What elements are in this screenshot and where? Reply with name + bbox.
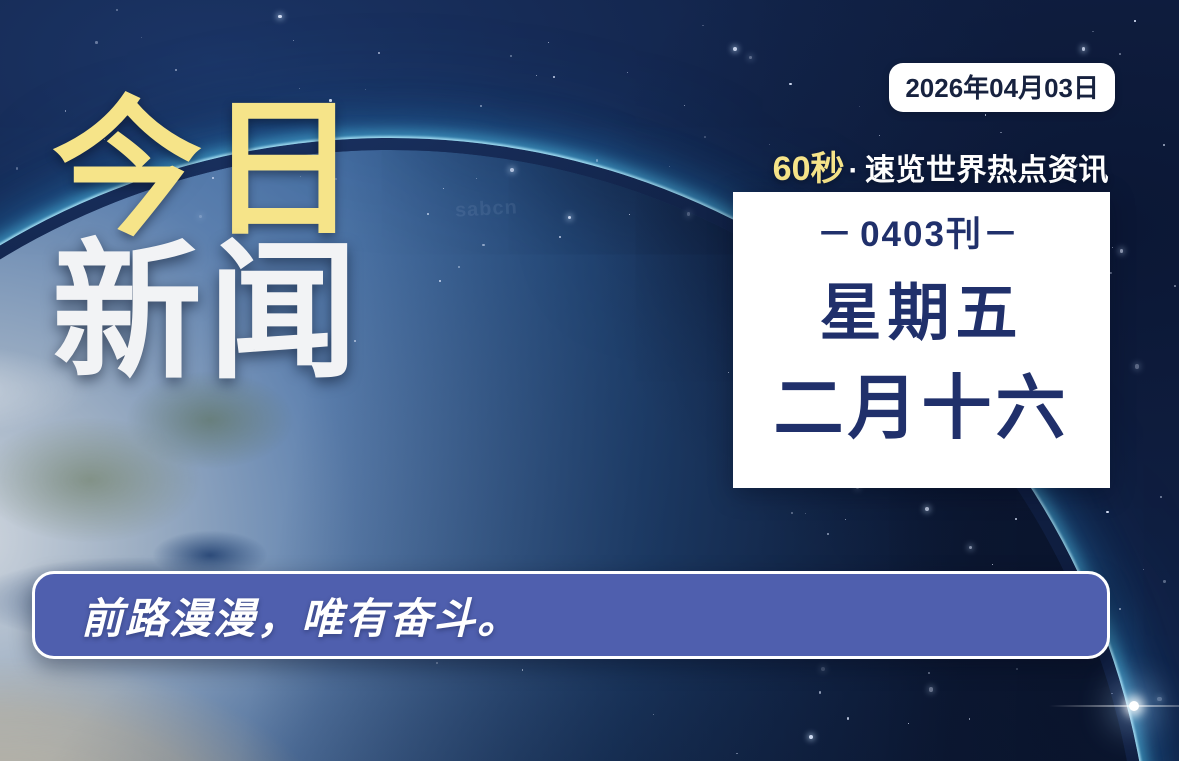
title-line-jinri: 今日 [52,96,364,245]
weekday-label: 星期五 [819,283,1023,345]
quote-bar: 前路漫漫，唯有奋斗。 [32,571,1110,659]
lunar-date-label: 二月十六 [774,373,1070,443]
news-poster: sabcn 2026年04月03日 60秒·速览世界热点资讯 今日 新闻 －04… [0,0,1179,761]
date-badge: 2026年04月03日 [889,63,1115,112]
page-title: 今日 新闻 [52,96,364,387]
lens-flare-star-icon [1129,701,1139,711]
quote-text: 前路漫漫，唯有奋斗。 [81,585,521,646]
issue-info-card: －0403刊－ 星期五 二月十六 [733,192,1110,488]
slogan: 60秒·速览世界热点资讯 [773,141,1109,190]
issue-number-row: －0403刊－ [817,206,1026,257]
issue-dash-left: － [817,215,860,254]
issue-number: 0403刊 [860,215,983,254]
slogan-separator: · [849,154,860,187]
watermark-text: sabcn [454,196,518,222]
title-line-xinwen: 新闻 [52,239,364,388]
slogan-text: 速览世界热点资讯 [865,154,1109,187]
slogan-seconds: 60秒 [773,150,845,188]
issue-dash-right: － [983,215,1026,254]
